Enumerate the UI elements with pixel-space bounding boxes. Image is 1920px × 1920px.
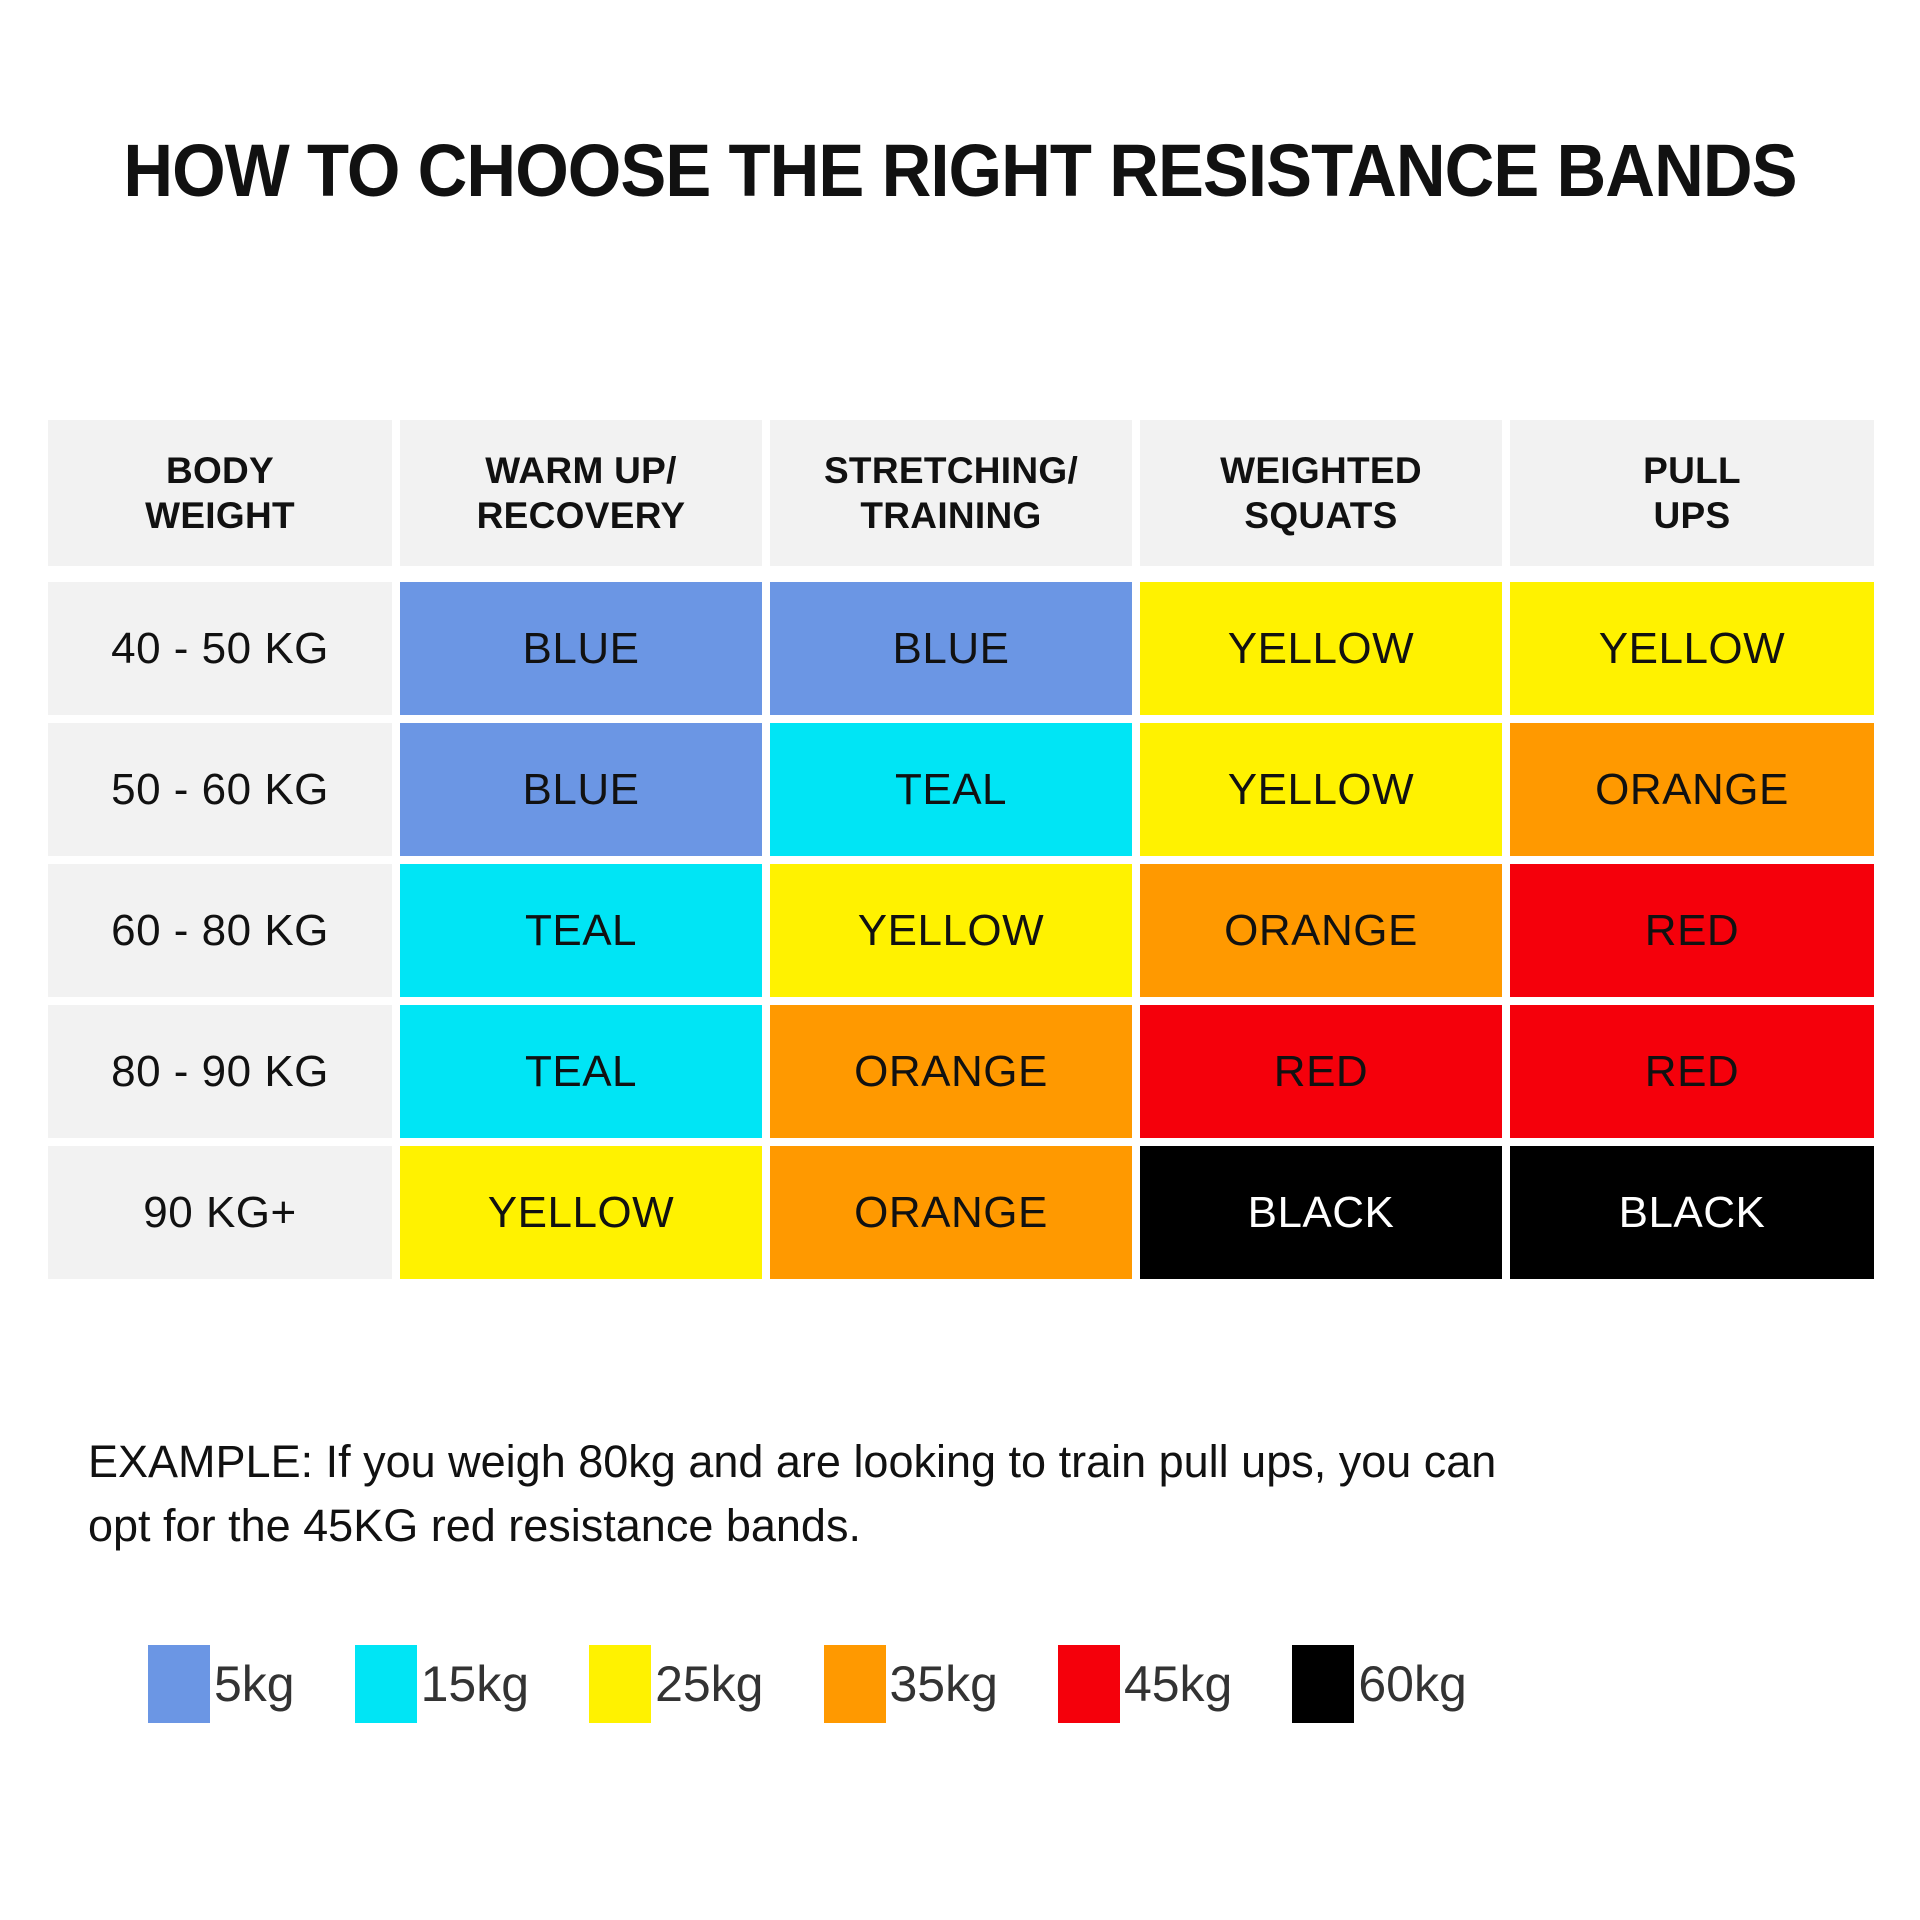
table-row: 50 - 60 KGBLUETEALYELLOWORANGE: [48, 723, 1868, 856]
legend-label: 45kg: [1124, 1655, 1232, 1713]
column-header-pull-ups: PULL UPS: [1510, 420, 1874, 566]
band-color-cell: RED: [1140, 1005, 1502, 1138]
band-color-cell: BLUE: [400, 582, 762, 715]
table-row: 60 - 80 KGTEALYELLOWORANGERED: [48, 864, 1868, 997]
column-header-stretching-training: STRETCHING/ TRAINING: [770, 420, 1132, 566]
table-row: 80 - 90 KGTEALORANGEREDRED: [48, 1005, 1868, 1138]
table-row: 40 - 50 KGBLUEBLUEYELLOWYELLOW: [48, 582, 1868, 715]
column-header-line1: BODY: [145, 448, 295, 493]
band-color-cell: TEAL: [770, 723, 1132, 856]
body-weight-cell: 40 - 50 KG: [48, 582, 392, 715]
body-weight-cell: 60 - 80 KG: [48, 864, 392, 997]
band-color-cell: RED: [1510, 864, 1874, 997]
table-body: 40 - 50 KGBLUEBLUEYELLOWYELLOW50 - 60 KG…: [48, 582, 1868, 1279]
band-color-cell: TEAL: [400, 1005, 762, 1138]
band-color-cell: YELLOW: [1140, 723, 1502, 856]
column-header-weighted-squats: WEIGHTED SQUATS: [1140, 420, 1502, 566]
legend-swatch: [1292, 1645, 1354, 1723]
example-line-1: EXAMPLE: If you weigh 80kg and are looki…: [88, 1430, 1868, 1494]
legend-swatch: [824, 1645, 886, 1723]
example-line-2: opt for the 45KG red resistance bands.: [88, 1494, 1868, 1558]
body-weight-cell: 80 - 90 KG: [48, 1005, 392, 1138]
body-weight-cell: 50 - 60 KG: [48, 723, 392, 856]
band-color-cell: BLACK: [1140, 1146, 1502, 1279]
band-color-cell: BLUE: [400, 723, 762, 856]
column-header-line1: STRETCHING/: [824, 448, 1078, 493]
band-color-cell: BLACK: [1510, 1146, 1874, 1279]
band-color-cell: YELLOW: [400, 1146, 762, 1279]
legend-item: 5kg: [148, 1645, 295, 1723]
column-header-line2: WEIGHT: [145, 493, 295, 538]
legend-item: 45kg: [1058, 1645, 1232, 1723]
legend-swatch: [589, 1645, 651, 1723]
resistance-band-table: BODY WEIGHT WARM UP/ RECOVERY STRETCHING…: [48, 420, 1868, 1279]
column-header-line2: UPS: [1643, 493, 1741, 538]
legend-swatch: [148, 1645, 210, 1723]
band-color-cell: RED: [1510, 1005, 1874, 1138]
table-row: 90 KG+YELLOWORANGEBLACKBLACK: [48, 1146, 1868, 1279]
legend-label: 25kg: [655, 1655, 763, 1713]
legend-label: 35kg: [890, 1655, 998, 1713]
band-color-cell: ORANGE: [770, 1146, 1132, 1279]
band-color-cell: ORANGE: [1140, 864, 1502, 997]
legend-item: 60kg: [1292, 1645, 1466, 1723]
column-header-line1: WARM UP/: [477, 448, 686, 493]
column-header-body-weight: BODY WEIGHT: [48, 420, 392, 566]
legend: 5kg15kg25kg35kg45kg60kg: [148, 1645, 1848, 1723]
page-title: HOW TO CHOOSE THE RIGHT RESISTANCE BANDS: [67, 128, 1853, 213]
band-color-cell: ORANGE: [1510, 723, 1874, 856]
band-color-cell: YELLOW: [770, 864, 1132, 997]
column-header-line2: RECOVERY: [477, 493, 686, 538]
legend-item: 15kg: [355, 1645, 529, 1723]
band-color-cell: TEAL: [400, 864, 762, 997]
legend-label: 60kg: [1358, 1655, 1466, 1713]
band-color-cell: ORANGE: [770, 1005, 1132, 1138]
column-header-warm-up-recovery: WARM UP/ RECOVERY: [400, 420, 762, 566]
table-header-row: BODY WEIGHT WARM UP/ RECOVERY STRETCHING…: [48, 420, 1868, 566]
column-header-line2: TRAINING: [824, 493, 1078, 538]
band-color-cell: YELLOW: [1140, 582, 1502, 715]
legend-swatch: [1058, 1645, 1120, 1723]
legend-label: 15kg: [421, 1655, 529, 1713]
legend-label: 5kg: [214, 1655, 295, 1713]
legend-item: 35kg: [824, 1645, 998, 1723]
legend-swatch: [355, 1645, 417, 1723]
band-color-cell: YELLOW: [1510, 582, 1874, 715]
legend-item: 25kg: [589, 1645, 763, 1723]
column-header-line1: PULL: [1643, 448, 1741, 493]
column-header-line1: WEIGHTED: [1220, 448, 1422, 493]
band-color-cell: BLUE: [770, 582, 1132, 715]
example-note: EXAMPLE: If you weigh 80kg and are looki…: [88, 1430, 1868, 1558]
column-header-line2: SQUATS: [1220, 493, 1422, 538]
body-weight-cell: 90 KG+: [48, 1146, 392, 1279]
